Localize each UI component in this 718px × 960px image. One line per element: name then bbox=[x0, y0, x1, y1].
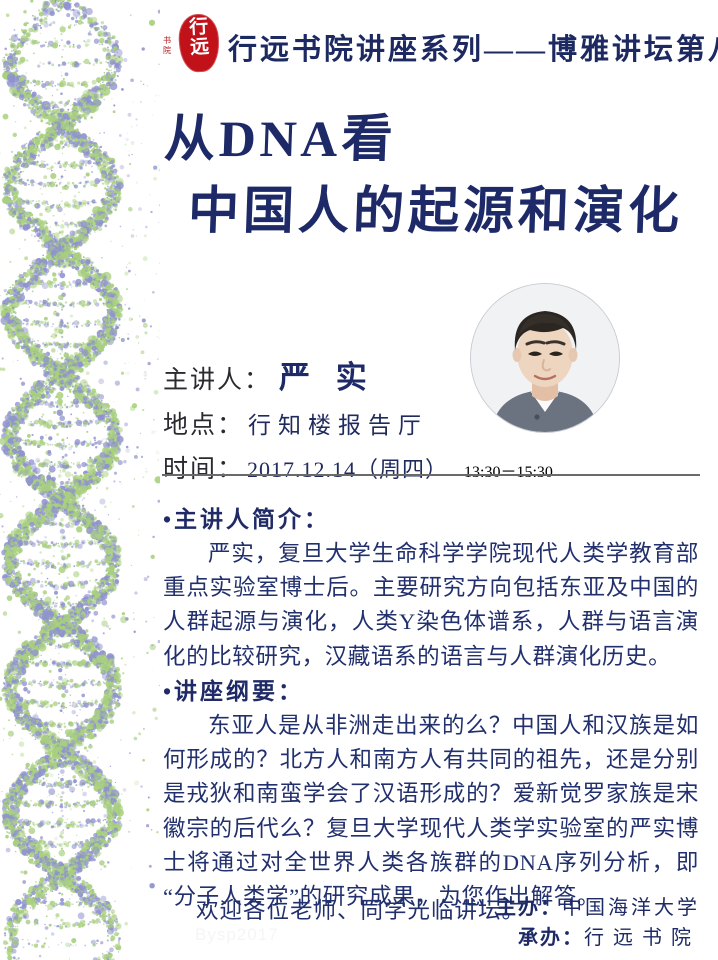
venue-label: 地点： bbox=[163, 412, 244, 439]
organizer-label: 承办： bbox=[518, 927, 584, 949]
welcome-line: 欢迎各位老师、同学光临讲坛。 bbox=[196, 893, 525, 925]
speaker-label: 主讲人： bbox=[163, 367, 271, 394]
page-title: 从DNA看 中国人的起源和演化 bbox=[164, 104, 709, 249]
organizer-value: 行远书院 bbox=[584, 927, 700, 949]
speaker-name: 严 实 bbox=[279, 360, 376, 395]
seal-char-2: 远 bbox=[179, 37, 220, 59]
venue-value: 行知楼报告厅 bbox=[248, 413, 428, 438]
lecture-poster: 书 院 行 远 行远书院讲座系列——博雅讲坛第八讲 从DNA看 中国人的起源和演… bbox=[0, 0, 718, 960]
title-line-1: 从DNA看 bbox=[163, 104, 711, 176]
outline-body: 东亚人是从非洲走出来的么？中国人和汉族是如何形成的？北方人和南方人有共同的祖先，… bbox=[163, 709, 699, 914]
organizer-row: 承办：行远书院 bbox=[496, 923, 700, 953]
bio-heading: •主讲人简介： bbox=[163, 500, 330, 534]
time-range: 13:30－15:30 bbox=[464, 464, 553, 481]
title-line-2: 中国人的起源和演化 bbox=[163, 176, 711, 248]
speaker-row: 主讲人：严 实 bbox=[163, 352, 633, 397]
seal-stamp: 行 远 bbox=[178, 13, 221, 73]
host-label: 主办： bbox=[496, 897, 562, 919]
seal-char-1: 行 bbox=[178, 17, 219, 39]
time-label: 时间： bbox=[163, 456, 244, 483]
outline-heading: •讲座纲要： bbox=[163, 672, 304, 706]
venue-row: 地点：行知楼报告厅 bbox=[163, 405, 633, 441]
series-title: 行远书院讲座系列——博雅讲坛第八讲 bbox=[228, 26, 718, 68]
header-band: 书 院 行 远 行远书院讲座系列——博雅讲坛第八讲 bbox=[0, 0, 718, 92]
host-row: 主办：中国海洋大学 bbox=[496, 893, 700, 923]
seal-side-char-1: 书 bbox=[159, 36, 175, 46]
time-row: 时间：2017.12.14（周四）13:30－15:30 bbox=[163, 449, 633, 485]
seal-side-text: 书 院 bbox=[159, 36, 175, 56]
time-date: 2017.12.14（周四） bbox=[247, 457, 448, 482]
bio-body: 严实，复旦大学生命科学学院现代人类学教育部重点实验室博士后。主要研究方向包括东亚… bbox=[163, 537, 699, 674]
lecture-info-block: 主讲人：严 实 地点：行知楼报告厅 时间：2017.12.14（周四）13:30… bbox=[163, 352, 633, 493]
section-divider bbox=[162, 474, 700, 476]
academy-seal-icon: 书 院 行 远 bbox=[157, 14, 219, 82]
host-value: 中国海洋大学 bbox=[562, 897, 700, 919]
organizers-block: 主办：中国海洋大学 承办：行远书院 bbox=[496, 893, 700, 953]
watermark: Bysp2017 bbox=[195, 925, 279, 945]
seal-side-char-2: 院 bbox=[159, 46, 175, 56]
